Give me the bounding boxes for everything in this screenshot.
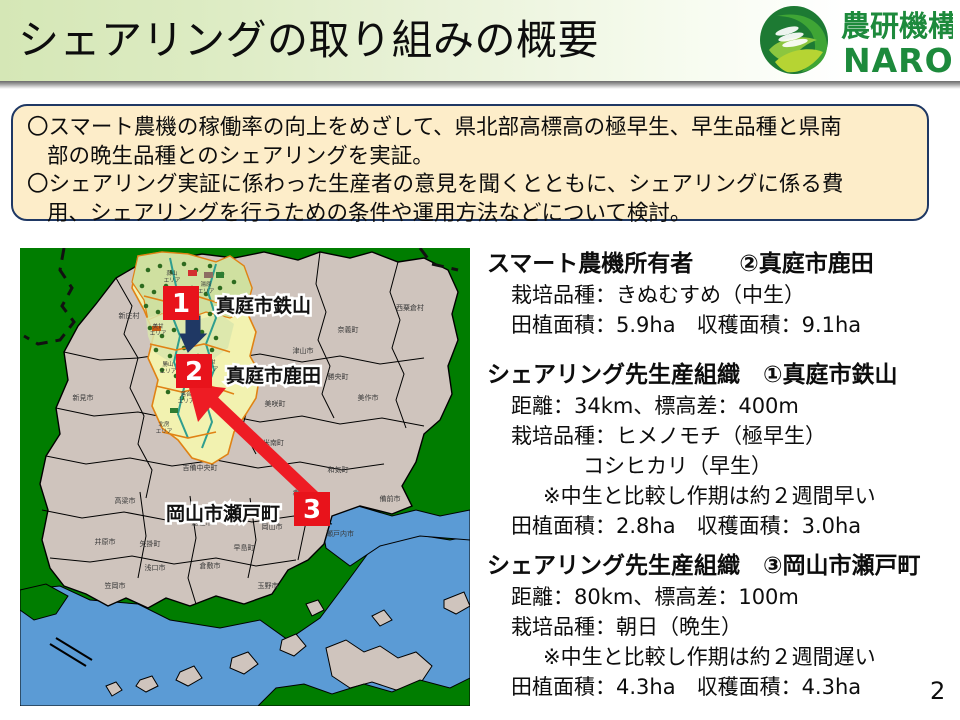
summary-callout-box: 〇スマート農機の稼働率の向上をめざして、県北部高標高の極早生、早生品種と県南 部… <box>11 104 929 221</box>
svg-text:2: 2 <box>185 357 203 387</box>
svg-text:矢掛町: 矢掛町 <box>140 539 161 548</box>
svg-text:西粟倉村: 西粟倉村 <box>396 303 424 312</box>
svg-text:備前市: 備前市 <box>380 494 401 503</box>
svg-text:新見市: 新見市 <box>73 393 94 402</box>
svg-text:湯原: 湯原 <box>200 280 212 288</box>
svg-text:エリア: エリア <box>198 288 215 295</box>
svg-text:美甘: 美甘 <box>152 322 164 330</box>
svg-text:井原市: 井原市 <box>95 537 116 546</box>
svg-text:エリア: エリア <box>164 277 181 284</box>
svg-text:勝央町: 勝央町 <box>328 372 349 381</box>
svg-text:高梁市: 高梁市 <box>115 496 136 505</box>
callout-line-3: 〇シェアリング実証に係わった生産者の意見を聞くとともに、シェアリングに係る費 <box>27 171 915 200</box>
svg-text:北房: 北房 <box>158 420 170 428</box>
svg-text:奈義町: 奈義町 <box>338 325 359 334</box>
naro-logo: 農研機構 NARO <box>757 4 953 78</box>
svg-text:浅口市: 浅口市 <box>145 563 166 572</box>
detail-partner1-variety-b: コシヒカリ（早生） <box>487 451 957 481</box>
detail-owner-area: 田植面積：5.9ha 収穫面積：9.1ha <box>487 310 957 340</box>
detail-owner-variety: 栽培品種：きぬむすめ（中生） <box>487 280 957 310</box>
svg-text:3: 3 <box>303 495 321 525</box>
detail-heading-partner-1: シェアリング先生産組織 ①真庭市鉄山 <box>487 360 957 391</box>
logo-kanji: 農研機構 <box>841 9 953 43</box>
spacer-2 <box>487 541 957 551</box>
svg-text:津山市: 津山市 <box>293 346 314 355</box>
detail-partner2-variety: 栽培品種：朝日（晩生） <box>487 612 957 642</box>
svg-text:蒜山: 蒜山 <box>166 269 177 277</box>
map-marker-3: 3 <box>294 492 330 526</box>
svg-text:勝山: 勝山 <box>162 360 173 368</box>
page-number: 2 <box>930 676 945 706</box>
slide-root: シェアリングの取り組みの概要 農研機構 NARO 〇スマート農機の稼働率の向上を… <box>0 0 960 720</box>
detail-partner1-variety-a: 栽培品種：ヒメノモチ（極早生） <box>487 421 957 451</box>
callout-line-4: 用、シェアリングを行うための条件や運用方法などについて検討。 <box>27 200 915 229</box>
details-panel: スマート農機所有者 ②真庭市鹿田 栽培品種：きぬむすめ（中生） 田植面積：5.9… <box>487 249 957 702</box>
svg-text:エリア: エリア <box>150 330 167 337</box>
detail-heading-owner: スマート農機所有者 ②真庭市鹿田 <box>487 249 957 280</box>
map-marker-2: 2 <box>176 354 212 388</box>
page-title: シェアリングの取り組みの概要 <box>18 8 599 72</box>
svg-text:瀬戸内市: 瀬戸内市 <box>326 529 354 538</box>
svg-text:真庭市鉄山: 真庭市鉄山 <box>216 294 311 317</box>
svg-text:玉野市: 玉野市 <box>258 581 279 590</box>
okayama-map: 新庄村 新見市 津山市 奈義町 西粟倉村 勝央町 美作市 美咲町 久米南町 吉備… <box>20 248 470 706</box>
svg-text:エリア: エリア <box>156 428 173 435</box>
detail-partner2-area: 田植面積：4.3ha 収穫面積：4.3ha <box>487 672 957 702</box>
svg-text:岡山市瀬戸町: 岡山市瀬戸町 <box>166 502 280 525</box>
svg-text:和気町: 和気町 <box>328 465 349 474</box>
detail-heading-partner-2: シェアリング先生産組織 ③岡山市瀬戸町 <box>487 551 957 582</box>
callout-line-1: 〇スマート農機の稼働率の向上をめざして、県北部高標高の極早生、早生品種と県南 <box>27 114 915 143</box>
svg-text:吉備中央町: 吉備中央町 <box>183 463 218 472</box>
svg-text:真庭市鹿田: 真庭市鹿田 <box>226 364 321 387</box>
detail-partner2-note: ※中生と比較し作期は約２週間遅い <box>487 642 957 672</box>
svg-text:美咲町: 美咲町 <box>265 399 286 408</box>
svg-text:倉敷市: 倉敷市 <box>200 561 221 570</box>
detail-partner1-note: ※中生と比較し作期は約２週間早い <box>487 481 957 511</box>
map-marker-1: 1 <box>163 286 199 320</box>
naro-emblem-icon <box>760 6 828 74</box>
header-divider-rule <box>0 81 960 89</box>
detail-partner1-area: 田植面積：2.8ha 収穫面積：3.0ha <box>487 511 957 541</box>
svg-text:新庄村: 新庄村 <box>119 311 140 320</box>
svg-text:1: 1 <box>172 289 190 319</box>
spacer-1 <box>487 340 957 360</box>
detail-partner1-distance: 距離：34km、標高差：400m <box>487 391 957 421</box>
callout-line-2: 部の晩生品種とのシェアリングを実証。 <box>27 143 915 172</box>
svg-text:美作市: 美作市 <box>358 393 379 402</box>
svg-text:笠岡市: 笠岡市 <box>105 581 126 590</box>
svg-text:エリア: エリア <box>160 368 177 375</box>
svg-text:早島町: 早島町 <box>234 543 255 552</box>
detail-partner2-distance: 距離：80km、標高差：100m <box>487 582 957 612</box>
logo-roman: NARO <box>843 41 953 78</box>
